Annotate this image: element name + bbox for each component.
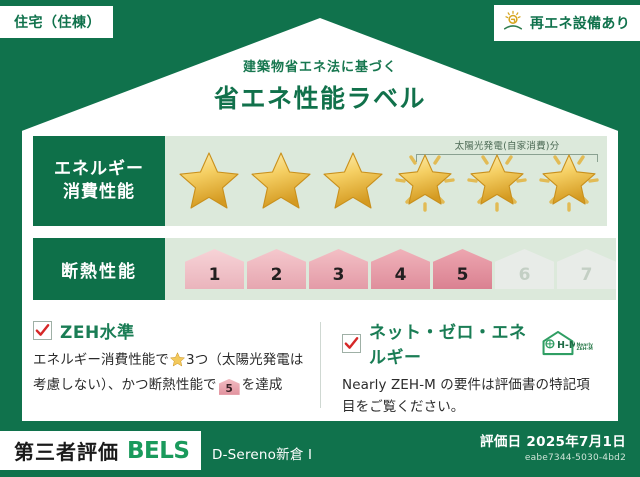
star-icon — [170, 355, 185, 371]
insulation-chip-value: 7 — [581, 265, 593, 285]
document-type-tag: 住宅（住棟） — [0, 6, 113, 38]
star-filled — [245, 141, 317, 221]
insulation-label: 断熱性能 — [61, 257, 137, 282]
insulation-chip-value: 4 — [395, 265, 407, 285]
statement-zeh: ZEH水準 エネルギー消費性能で3つ（太陽光発電は考慮しない）、かつ断熱性能で5… — [33, 318, 320, 414]
insulation-chip-value: 3 — [333, 265, 345, 285]
insulation-performance-label-cell: 断熱性能 — [33, 238, 165, 300]
insulation-chip-value: 2 — [271, 265, 283, 285]
star-rating-strip — [173, 141, 607, 221]
evaluation-id: eabe7344-5030-4bd2 — [480, 453, 626, 463]
insulation-chip: 5 — [433, 249, 492, 289]
property-name: D-Sereno新倉 I — [212, 443, 312, 463]
evaluation-date: 評価日 2025年7月1日 — [480, 430, 626, 450]
insulation-performance-row: 断熱性能 1 2 3 4 5 6 7 — [33, 238, 607, 300]
insulation-chip: 2 — [247, 249, 306, 289]
title-block: 建築物省エネ法に基づく 省エネ性能ラベル — [0, 56, 640, 115]
star-filled — [173, 141, 245, 221]
insulation-grade-strip: 1 2 3 4 5 6 7 — [185, 249, 616, 289]
energy-performance-label: 住宅（住棟） 再エネ設備あり 建築物省エネ法に基づく 省エネ性能ラベル — [0, 0, 640, 477]
star-filled-solar — [533, 141, 605, 221]
energy-label-line2: 消費性能 — [63, 181, 135, 204]
document-type-label: 住宅（住棟） — [14, 15, 101, 31]
net-zero-title: ネット・ゼロ・エネルギー — [369, 318, 535, 368]
zeh-body: エネルギー消費性能で3つ（太陽光発電は考慮しない）、かつ断熱性能で5を達成 — [33, 350, 306, 397]
zeh-m-logo-icon: H-M Nearly ZEH-M — [541, 330, 593, 356]
net-zero-body: Nearly ZEH-M の要件は評価書の特記項目をご覧ください。 — [342, 375, 593, 419]
renewable-energy-badge: 再エネ設備あり — [494, 5, 640, 41]
page-title: 省エネ性能ラベル — [0, 79, 640, 115]
energy-performance-label-cell: エネルギー 消費性能 — [33, 136, 165, 226]
insulation-chip: 1 — [185, 249, 244, 289]
zeh-body-part1: エネルギー消費性能で — [33, 352, 169, 368]
insulation-chip-value: 5 — [457, 265, 469, 285]
footer: 第三者評価 BELS D-Sereno新倉 I 評価日 2025年7月1日 ea… — [0, 425, 640, 477]
zeh-title: ZEH水準 — [60, 318, 135, 343]
zeh-body-part3: を達成 — [242, 377, 283, 393]
star-filled-solar — [461, 141, 533, 221]
zeh-m-logo-sub2: ZEH-M — [576, 348, 593, 353]
insulation-chip: 7 — [557, 249, 616, 289]
zeh-heading: ZEH水準 — [33, 318, 306, 343]
title-subtitle: 建築物省エネ法に基づく — [0, 56, 640, 75]
insulation-chip: 6 — [495, 249, 554, 289]
energy-label-line1: エネルギー — [54, 158, 144, 181]
insulation-chip-inline: 5 — [219, 379, 240, 395]
insulation-chip-track: 1 2 3 4 5 6 7 — [165, 238, 616, 300]
insulation-chip-value: 6 — [519, 265, 531, 285]
bels-jp-label: 第三者評価 — [14, 436, 119, 465]
statement-net-zero: ネット・ゼロ・エネルギー H-M Nearly ZEH-M Nearly ZEH… — [320, 318, 607, 414]
net-zero-heading: ネット・ゼロ・エネルギー H-M Nearly ZEH-M — [342, 318, 593, 368]
energy-star-track: 太陽光発電(自家消費)分 — [165, 136, 607, 226]
evaluation-info: 評価日 2025年7月1日 eabe7344-5030-4bd2 — [480, 430, 626, 463]
statements-section: ZEH水準 エネルギー消費性能で3つ（太陽光発電は考慮しない）、かつ断熱性能で5… — [33, 318, 607, 414]
insulation-chip-value: 1 — [209, 265, 221, 285]
checkmark-icon — [342, 334, 361, 353]
star-filled — [317, 141, 389, 221]
svg-text:H-M: H-M — [558, 340, 576, 351]
star-filled-solar — [389, 141, 461, 221]
insulation-chip: 3 — [309, 249, 368, 289]
energy-performance-row: エネルギー 消費性能 太陽光発電(自家消費)分 — [33, 136, 607, 226]
renewable-badge-label: 再エネ設備あり — [530, 13, 630, 33]
bels-certification-plate: 第三者評価 BELS — [0, 431, 201, 470]
bels-logo-text: BELS — [127, 438, 189, 464]
checkmark-icon — [33, 321, 52, 340]
sun-renewable-icon — [502, 10, 524, 36]
insulation-chip: 4 — [371, 249, 430, 289]
